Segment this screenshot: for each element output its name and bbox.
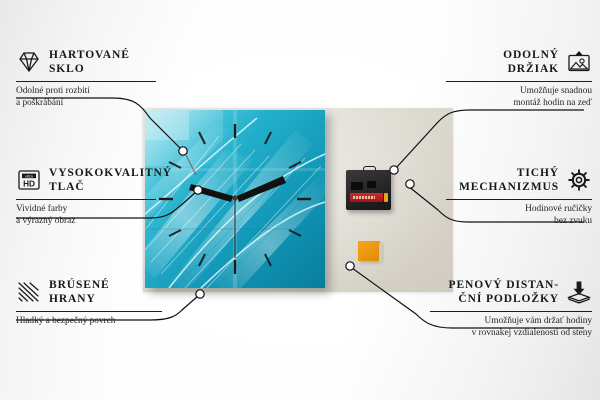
feature-header: PENOVÝ DISTAN- ČNÍ PODLOŽKY bbox=[430, 278, 592, 306]
feature-title-line2: HRANY bbox=[49, 292, 110, 306]
foam-spacer-pad bbox=[358, 241, 380, 261]
mechanism-slot-left bbox=[351, 182, 363, 190]
feature-desc-line2: a výrazný obraz bbox=[16, 216, 156, 228]
feature-tempered-glass: HARTOVANÉ SKLO Odolné proti rozbití a po… bbox=[16, 48, 156, 109]
mechanism-housing bbox=[346, 170, 391, 210]
feature-desc-line1: Umožňuje vám držať hodiny bbox=[430, 316, 592, 328]
svg-text:ultra: ultra bbox=[25, 174, 33, 178]
feature-desc-line1: Odolné proti rozbití bbox=[16, 86, 156, 98]
feature-title-line1: HARTOVANÉ bbox=[49, 48, 130, 62]
feature-title-line2: SKLO bbox=[49, 62, 130, 76]
feature-desc-line2: bez zvuku bbox=[446, 216, 592, 228]
feature-foam-spacers: PENOVÝ DISTAN- ČNÍ PODLOŽKY Umožňuje vám… bbox=[430, 278, 592, 339]
diamond-icon bbox=[16, 49, 42, 75]
divider bbox=[430, 311, 592, 312]
ultra-hd-icon: ultra HD bbox=[16, 167, 42, 193]
feature-desc-line1: Hodinové ručičky bbox=[446, 204, 592, 216]
feature-title-line1: BRÚSENÉ bbox=[49, 278, 110, 292]
feature-title-line1: TICHÝ bbox=[459, 166, 559, 180]
battery-terminal bbox=[384, 193, 388, 202]
feature-title-line1: PENOVÝ DISTAN- bbox=[449, 278, 559, 292]
svg-text:HD: HD bbox=[23, 180, 35, 189]
clock-hands bbox=[189, 176, 286, 258]
brushed-edges-icon bbox=[16, 279, 42, 305]
feature-title-line2: DRŽIAK bbox=[503, 62, 559, 76]
feature-high-quality-print: ultra HD VYSOKOKVALITNÝ TLAČ Vividné far… bbox=[16, 166, 156, 227]
feature-desc-line2: v rovnakej vzdialenosti od steny bbox=[430, 328, 592, 340]
feature-silent-mechanism: TICHÝ MECHANIZMUS Hodinové ručičky bez bbox=[446, 166, 592, 227]
feature-title-line1: ODOLNÝ bbox=[503, 48, 559, 62]
feature-title-line2: MECHANIZMUS bbox=[459, 180, 559, 194]
clock-hands-and-markers bbox=[145, 110, 325, 288]
feature-title-line1: VYSOKOKVALITNÝ bbox=[49, 166, 172, 180]
foam-pad-icon bbox=[566, 279, 592, 305]
feature-header: TICHÝ MECHANIZMUS bbox=[446, 166, 592, 194]
feature-title-line2: TLAČ bbox=[49, 180, 172, 194]
divider bbox=[446, 81, 592, 82]
feature-header: BRÚSENÉ HRANY bbox=[16, 278, 162, 306]
feature-desc-line2: a poškrábání bbox=[16, 98, 156, 110]
divider bbox=[16, 311, 162, 312]
feature-header: ODOLNÝ DRŽIAK bbox=[446, 48, 592, 76]
battery-label bbox=[353, 196, 375, 199]
feature-desc-line2: montáž hodin na zeď bbox=[446, 98, 592, 110]
feature-polished-edges: BRÚSENÉ HRANY Hladký a bezpečný povrch bbox=[16, 278, 162, 328]
clock-mechanism bbox=[346, 166, 391, 210]
feature-desc-line1: Hladký a bezpečný povrch bbox=[16, 316, 162, 328]
divider bbox=[16, 199, 156, 200]
feature-durable-holder: ODOLNÝ DRŽIAK Umožňuje snadnou montáž ho… bbox=[446, 48, 592, 109]
product-photo bbox=[143, 108, 453, 292]
gear-icon bbox=[566, 167, 592, 193]
divider bbox=[446, 199, 592, 200]
feature-desc-line1: Umožňuje snadnou bbox=[446, 86, 592, 98]
mechanism-slot-right bbox=[367, 181, 376, 188]
feature-header: HARTOVANÉ SKLO bbox=[16, 48, 156, 76]
feature-title-line2: ČNÍ PODLOŽKY bbox=[449, 292, 559, 306]
infographic-canvas: HARTOVANÉ SKLO Odolné proti rozbití a po… bbox=[0, 0, 600, 400]
feature-desc-line1: Vividné farby bbox=[16, 204, 156, 216]
divider bbox=[16, 81, 156, 82]
foam-pad-side bbox=[379, 243, 384, 263]
battery bbox=[350, 193, 383, 202]
wall-clock-product bbox=[145, 110, 325, 288]
picture-frame-icon bbox=[566, 49, 592, 75]
feature-header: ultra HD VYSOKOKVALITNÝ TLAČ bbox=[16, 166, 156, 194]
